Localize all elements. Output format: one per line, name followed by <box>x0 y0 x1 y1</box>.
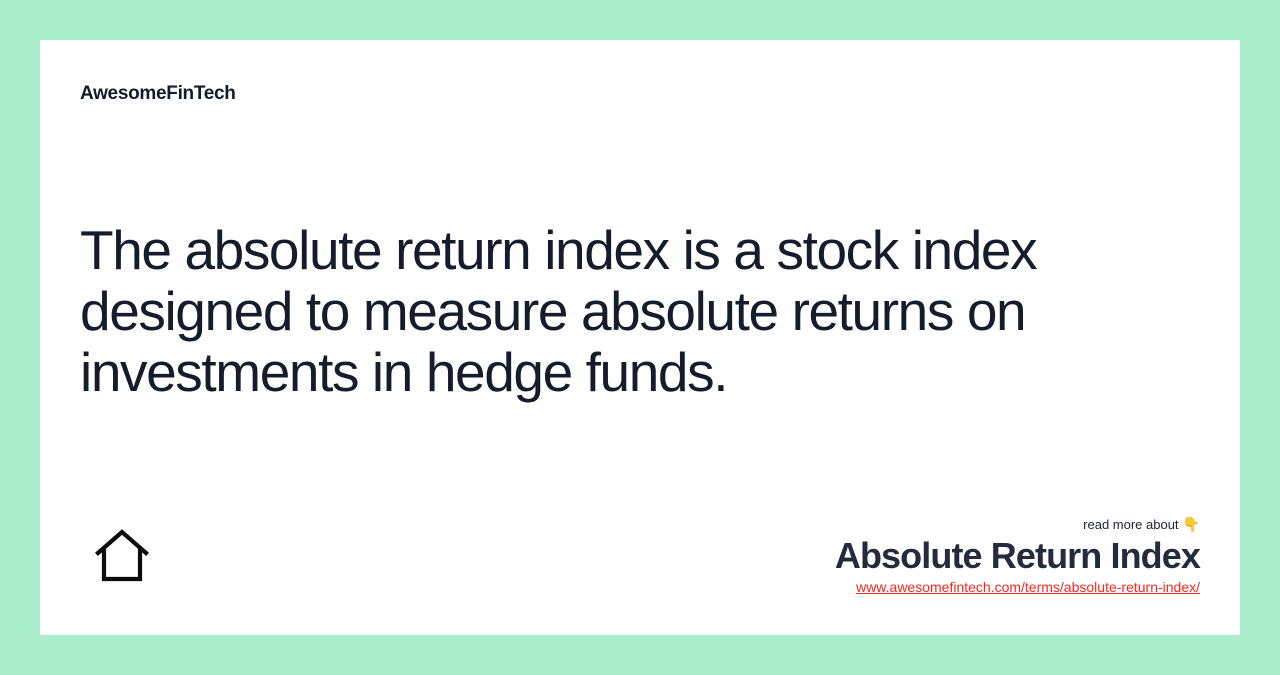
term-title: Absolute Return Index <box>835 534 1200 577</box>
home-icon <box>95 528 149 584</box>
headline-text: The absolute return index is a stock ind… <box>80 220 1150 403</box>
content-card: AwesomeFinTech The absolute return index… <box>40 40 1240 635</box>
term-url-link[interactable]: www.awesomefintech.com/terms/absolute-re… <box>856 577 1200 597</box>
brand-logo: AwesomeFinTech <box>80 83 236 105</box>
term-footer: read more about👇 Absolute Return Index w… <box>835 515 1200 597</box>
read-more-label: read more about <box>1083 517 1178 532</box>
read-more-line: read more about👇 <box>835 515 1200 534</box>
pointing-down-icon: 👇 <box>1183 516 1200 532</box>
